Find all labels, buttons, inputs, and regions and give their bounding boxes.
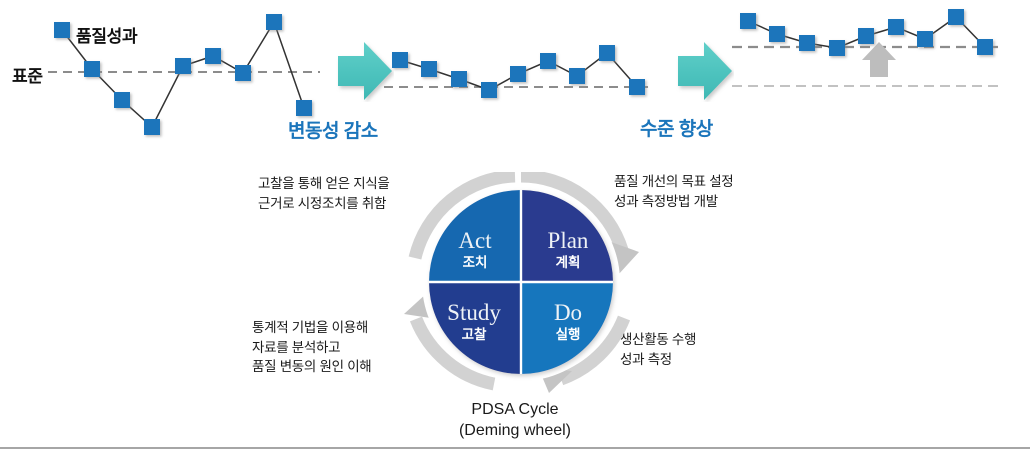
data-point — [799, 35, 815, 51]
data-point — [948, 9, 964, 25]
transition-arrow-2 — [676, 40, 734, 107]
transition-arrow-1 — [336, 40, 394, 107]
quadrant-study-label-en: Study — [447, 300, 501, 325]
data-point — [888, 19, 904, 35]
data-point — [977, 39, 993, 55]
act-note-line2: 근거로 시정조치를 취함 — [258, 194, 390, 214]
pdsa-wheel-svg: Act 조치 Plan 계획 Study 고찰 Do 실행 — [386, 172, 656, 410]
slide-canvas: 품질성과 표준 변동성 감소 — [0, 0, 1030, 449]
chart-level-up — [738, 2, 1006, 127]
data-point — [769, 26, 785, 42]
quadrant-act-label-ko: 조치 — [463, 255, 488, 270]
quadrant-plan-label-en: Plan — [548, 228, 589, 253]
wheel-caption: PDSA Cycle (Deming wheel) — [0, 400, 1030, 442]
series-markers — [740, 9, 993, 56]
study-note-line1: 통계적 기법을 이용해 — [252, 318, 371, 338]
data-point — [266, 14, 282, 30]
data-point — [599, 45, 615, 61]
data-point — [114, 92, 130, 108]
data-point — [569, 68, 585, 84]
data-point — [235, 65, 251, 81]
data-point — [205, 48, 221, 64]
data-point — [175, 58, 191, 74]
data-point — [421, 61, 437, 77]
data-point — [829, 40, 845, 56]
standard-label: 표준 — [12, 62, 43, 87]
chart-reduced-variation-svg — [390, 8, 652, 133]
data-point — [84, 61, 100, 77]
wheel-caption-line2: (Deming wheel) — [0, 421, 1030, 442]
study-note-line3: 품질 변동의 원인 이해 — [252, 357, 371, 377]
arrow2-caption: 수준 향상 — [640, 114, 713, 141]
chart-level-up-svg — [738, 2, 1006, 127]
data-point — [629, 79, 645, 95]
data-point — [296, 100, 312, 116]
wheel-caption-line1: PDSA Cycle — [0, 400, 1030, 421]
data-point — [740, 13, 756, 29]
data-point — [451, 71, 467, 87]
data-point — [54, 22, 70, 38]
quadrant-act-label-en: Act — [458, 228, 492, 253]
right-block-arrow-icon — [676, 40, 734, 102]
pdsa-wheel: Act 조치 Plan 계획 Study 고찰 Do 실행 — [386, 172, 656, 410]
quadrant-do-label-ko: 실행 — [556, 327, 581, 342]
data-point — [510, 66, 526, 82]
quadrant-study-label-ko: 고찰 — [462, 327, 487, 342]
data-point — [481, 82, 497, 98]
quadrant-plan-label-ko: 계획 — [556, 254, 581, 270]
act-note-line1: 고찰을 통해 얻은 지식을 — [258, 174, 390, 194]
arrow1-caption: 변동성 감소 — [288, 116, 378, 143]
series-markers — [392, 45, 645, 98]
study-note: 통계적 기법을 이용해 자료를 분석하고 품질 변동의 원인 이해 — [252, 318, 371, 377]
data-point — [392, 52, 408, 68]
data-point — [917, 31, 933, 47]
study-note-line2: 자료를 분석하고 — [252, 338, 371, 358]
act-note: 고찰을 통해 얻은 지식을 근거로 시정조치를 취함 — [258, 174, 390, 213]
quality-performance-label: 품질성과 — [76, 22, 137, 47]
quadrant-do-label-en: Do — [554, 300, 582, 325]
chart-reduced-variation — [390, 8, 652, 133]
data-point — [144, 119, 160, 135]
data-point — [540, 53, 556, 69]
right-block-arrow-icon — [336, 40, 394, 102]
data-point — [858, 28, 874, 44]
